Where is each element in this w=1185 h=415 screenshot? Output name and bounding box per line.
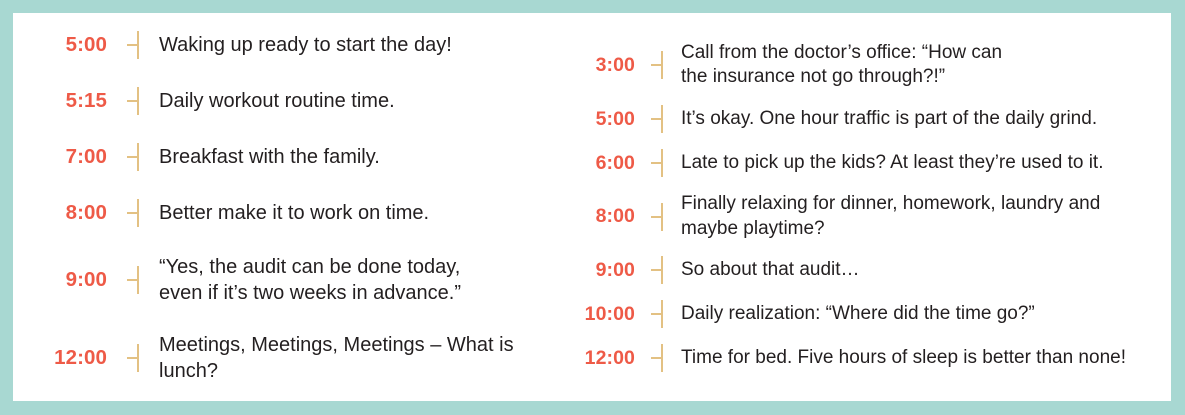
schedule-entry: 12:00 Time for bed. Five hours of sleep … (563, 343, 1161, 373)
entry-time: 10:00 (563, 303, 635, 326)
entry-text: Finally relaxing for dinner, homework, l… (673, 192, 1161, 241)
entry-time: 5:15 (35, 89, 107, 113)
schedule-entry: 9:00 So about that audit… (563, 255, 1161, 285)
timeline-tick-icon (123, 30, 145, 60)
teal-frame: 5:00 Waking up ready to start the day! 5… (0, 0, 1185, 415)
entry-time: 9:00 (563, 259, 635, 282)
timeline-tick-icon (647, 343, 669, 373)
schedule-entry: 6:00 Late to pick up the kids? At least … (563, 148, 1161, 178)
schedule-entry: 9:00 “Yes, the audit can be done today, … (35, 254, 543, 306)
timeline-tick-icon (647, 299, 669, 329)
entry-time: 5:00 (35, 33, 107, 57)
entry-text: So about that audit… (673, 258, 1161, 283)
timeline-tick-icon (647, 148, 669, 178)
entry-time: 5:00 (563, 108, 635, 131)
timeline-tick-icon (123, 142, 145, 172)
timeline-tick-icon (123, 343, 145, 373)
schedule-entry: 10:00 Daily realization: “Where did the … (563, 299, 1161, 329)
entry-time: 12:00 (563, 347, 635, 370)
schedule-entry: 8:00 Better make it to work on time. (35, 198, 543, 228)
entry-text: Call from the doctor’s office: “How can … (673, 41, 1161, 90)
timeline-tick-icon (123, 198, 145, 228)
entry-text: “Yes, the audit can be done today, even … (149, 254, 543, 306)
schedule-column-morning: 5:00 Waking up ready to start the day! 5… (13, 13, 543, 401)
entry-text: Meetings, Meetings, Meetings – What is l… (149, 332, 543, 384)
schedule-entry: 8:00 Finally relaxing for dinner, homewo… (563, 192, 1161, 241)
entry-text: It’s okay. One hour traffic is part of t… (673, 107, 1161, 132)
schedule-entry: 7:00 Breakfast with the family. (35, 142, 543, 172)
schedule-panel: 5:00 Waking up ready to start the day! 5… (13, 13, 1171, 401)
entry-text: Late to pick up the kids? At least they’… (673, 151, 1161, 176)
timeline-tick-icon (647, 104, 669, 134)
entry-text: Breakfast with the family. (149, 144, 543, 170)
schedule-column-evening: 3:00 Call from the doctor’s office: “How… (543, 13, 1171, 401)
entry-time: 6:00 (563, 152, 635, 175)
entry-text: Waking up ready to start the day! (149, 32, 543, 58)
entry-text: Time for bed. Five hours of sleep is bet… (673, 346, 1161, 371)
entry-time: 8:00 (563, 205, 635, 228)
entry-text: Better make it to work on time. (149, 200, 543, 226)
entry-time: 7:00 (35, 145, 107, 169)
schedule-entry: 12:00 Meetings, Meetings, Meetings – Wha… (35, 332, 543, 384)
timeline-tick-icon (123, 86, 145, 116)
entry-text: Daily realization: “Where did the time g… (673, 302, 1161, 327)
timeline-tick-icon (123, 265, 145, 295)
entry-time: 9:00 (35, 268, 107, 292)
timeline-tick-icon (647, 255, 669, 285)
entry-time: 12:00 (35, 346, 107, 370)
schedule-entry: 3:00 Call from the doctor’s office: “How… (563, 41, 1161, 90)
timeline-tick-icon (647, 202, 669, 232)
timeline-tick-icon (647, 50, 669, 80)
schedule-entry: 5:15 Daily workout routine time. (35, 86, 543, 116)
schedule-entry: 5:00 It’s okay. One hour traffic is part… (563, 104, 1161, 134)
entry-time: 3:00 (563, 54, 635, 77)
schedule-entry: 5:00 Waking up ready to start the day! (35, 30, 543, 60)
entry-text: Daily workout routine time. (149, 88, 543, 114)
entry-time: 8:00 (35, 201, 107, 225)
